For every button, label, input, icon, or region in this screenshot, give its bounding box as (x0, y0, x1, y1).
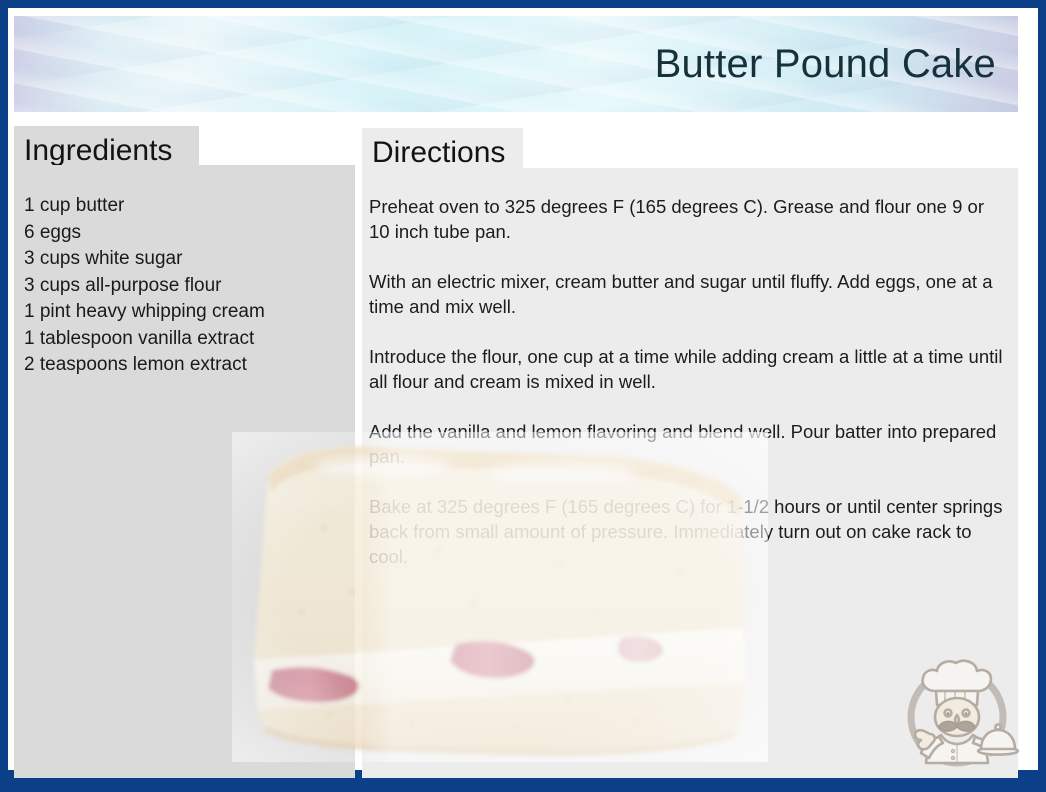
direction-step: Introduce the flour, one cup at a time w… (369, 344, 1004, 394)
ingredients-panel: 1 cup butter6 eggs3 cups white sugar3 cu… (14, 165, 355, 778)
recipe-card-page: Butter Pound Cake Ingredients 1 cup butt… (0, 0, 1046, 792)
direction-step: With an electric mixer, cream butter and… (369, 269, 1004, 319)
direction-step: Bake at 325 degrees F (165 degrees C) fo… (369, 494, 1004, 569)
ingredient-item: 3 cups all-purpose flour (24, 273, 347, 300)
header-banner: Butter Pound Cake (14, 16, 1018, 112)
ingredient-item: 2 teaspoons lemon extract (24, 352, 347, 379)
ingredients-heading: Ingredients (24, 136, 172, 166)
directions-section-tab: Directions (362, 128, 523, 170)
ingredients-list: 1 cup butter6 eggs3 cups white sugar3 cu… (24, 193, 347, 379)
ingredient-item: 1 tablespoon vanilla extract (24, 326, 347, 353)
ingredient-item: 3 cups white sugar (24, 246, 347, 273)
direction-step: Add the vanilla and lemon flavoring and … (369, 419, 1004, 469)
ingredient-item: 1 pint heavy whipping cream (24, 299, 347, 326)
ingredient-item: 6 eggs (24, 220, 347, 247)
page-title: Butter Pound Cake (655, 42, 996, 86)
direction-step: Preheat oven to 325 degrees F (165 degre… (369, 194, 1004, 244)
directions-steps: Preheat oven to 325 degrees F (165 degre… (369, 194, 1004, 569)
ingredient-item: 1 cup butter (24, 193, 347, 220)
directions-heading: Directions (372, 138, 505, 168)
ingredients-section-tab: Ingredients (14, 126, 199, 168)
directions-panel: Preheat oven to 325 degrees F (165 degre… (362, 168, 1018, 778)
